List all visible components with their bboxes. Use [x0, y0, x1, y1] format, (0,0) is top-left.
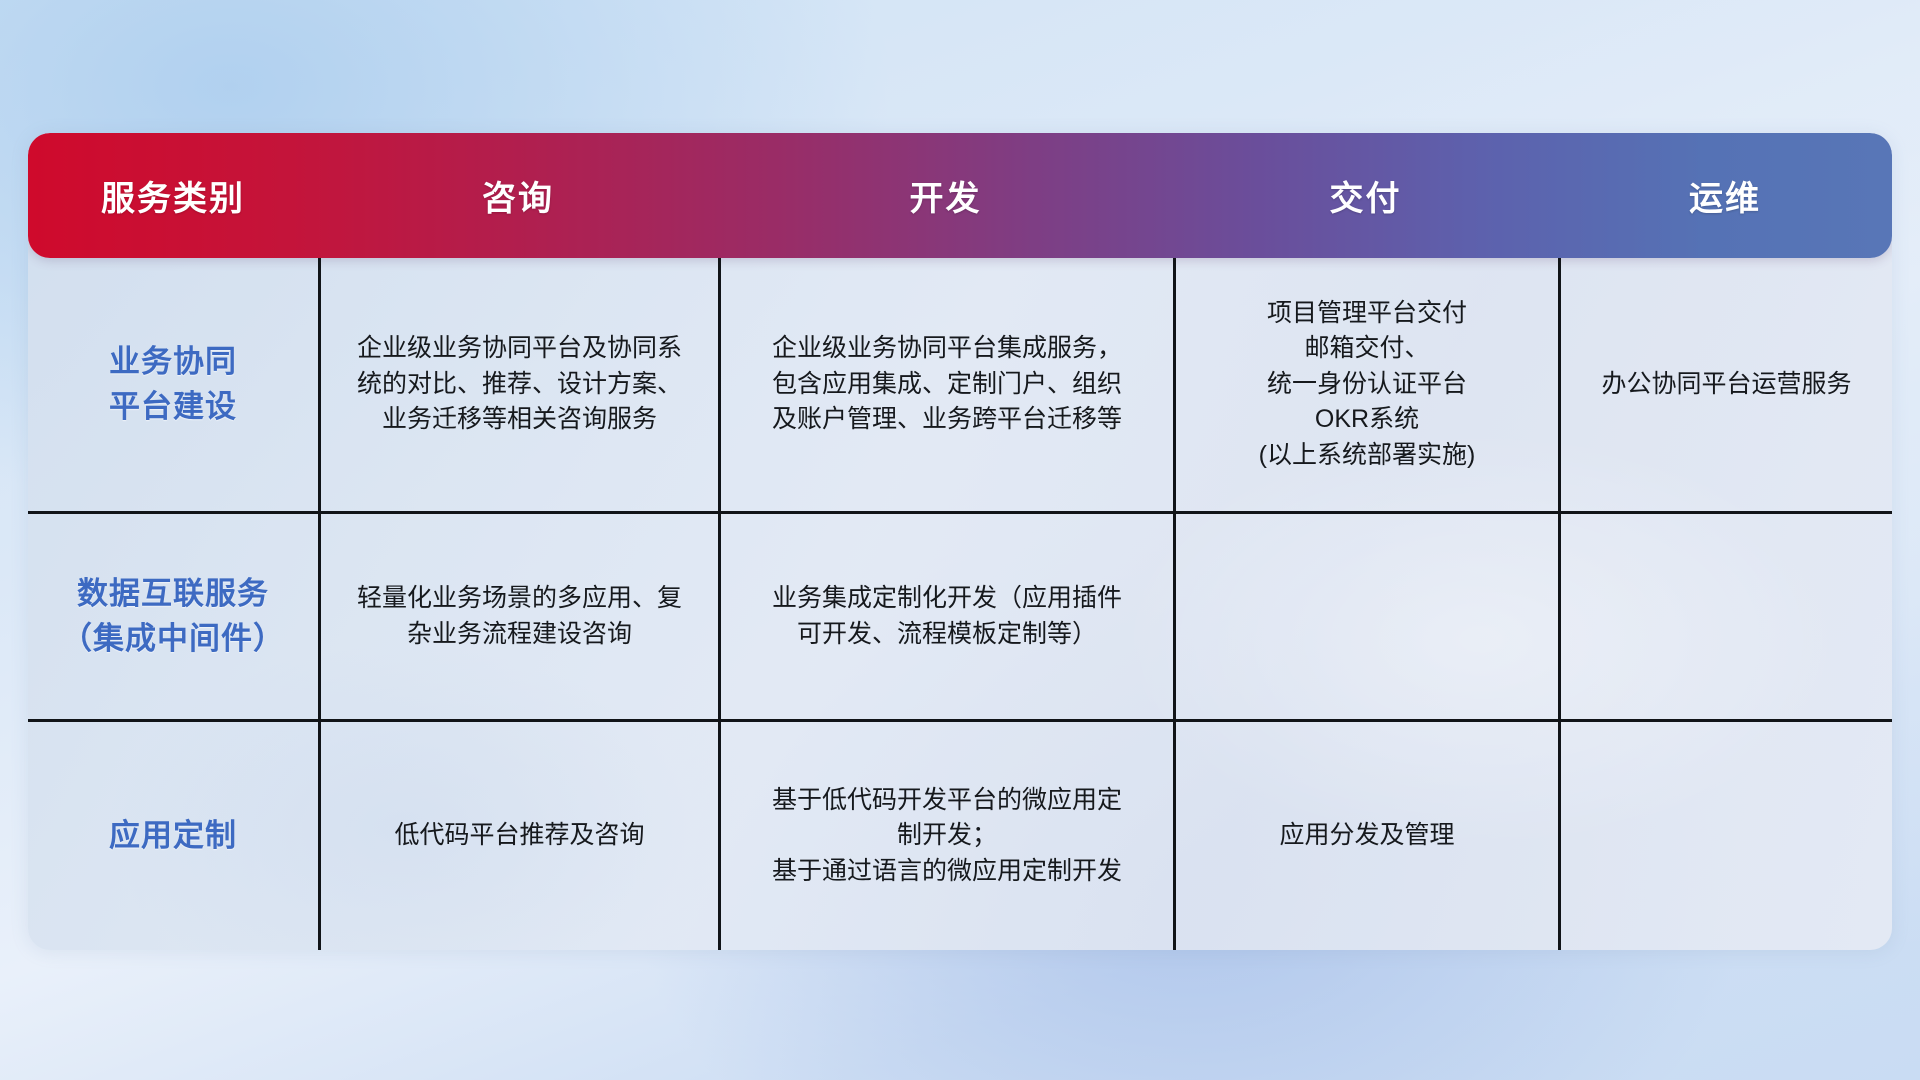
row-category-cell: 应用定制 [28, 722, 318, 950]
cell-consulting: 低代码平台推荐及咨询 [318, 722, 718, 950]
row-category-label: 应用定制 [109, 814, 237, 859]
cell-text: 基于低代码开发平台的微应用定 制开发； 基于通过语言的微应用定制开发 [772, 783, 1122, 890]
cell-delivery: 项目管理平台交付 邮箱交付、 统一身份认证平台 OKR系统 (以上系统部署实施) [1173, 258, 1558, 511]
cell-consulting: 轻量化业务场景的多应用、复 杂业务流程建设咨询 [318, 514, 718, 719]
cell-operations [1558, 514, 1892, 719]
column-header-development: 开发 [718, 133, 1173, 258]
row-category-label: 业务协同 平台建设 [109, 340, 237, 430]
table-body: 业务协同 平台建设 企业级业务协同平台及协同系 统的对比、推荐、设计方案、 业务… [28, 258, 1892, 950]
cell-text: 项目管理平台交付 邮箱交付、 统一身份认证平台 OKR系统 (以上系统部署实施) [1259, 296, 1476, 474]
column-header-delivery: 交付 [1173, 133, 1558, 258]
cell-development: 企业级业务协同平台集成服务， 包含应用集成、定制门户、组织 及账户管理、业务跨平… [718, 258, 1173, 511]
page-root: 服务类别 咨询 开发 交付 运维 业务协同 平台建设 企业级业务协同平台及协同系… [0, 0, 1920, 1080]
table-header-row: 服务类别 咨询 开发 交付 运维 [28, 133, 1892, 258]
cell-consulting: 企业级业务协同平台及协同系 统的对比、推荐、设计方案、 业务迁移等相关咨询服务 [318, 258, 718, 511]
row-category-label: 数据互联服务 （集成中间件） [61, 572, 285, 662]
row-category-cell: 数据互联服务 （集成中间件） [28, 514, 318, 719]
table-row: 业务协同 平台建设 企业级业务协同平台及协同系 统的对比、推荐、设计方案、 业务… [28, 258, 1892, 511]
column-header-category: 服务类别 [28, 133, 318, 258]
cell-text: 企业级业务协同平台及协同系 统的对比、推荐、设计方案、 业务迁移等相关咨询服务 [357, 331, 682, 438]
row-category-cell: 业务协同 平台建设 [28, 258, 318, 511]
cell-delivery: 应用分发及管理 [1173, 722, 1558, 950]
cell-development: 基于低代码开发平台的微应用定 制开发； 基于通过语言的微应用定制开发 [718, 722, 1173, 950]
column-header-consulting: 咨询 [318, 133, 718, 258]
cell-operations: 办公协同平台运营服务 [1558, 258, 1892, 511]
cell-text: 应用分发及管理 [1279, 818, 1454, 854]
cell-text: 轻量化业务场景的多应用、复 杂业务流程建设咨询 [357, 581, 682, 652]
cell-text: 办公协同平台运营服务 [1601, 367, 1851, 403]
service-category-table: 服务类别 咨询 开发 交付 运维 业务协同 平台建设 企业级业务协同平台及协同系… [28, 133, 1892, 950]
column-header-operations: 运维 [1558, 133, 1892, 258]
cell-development: 业务集成定制化开发（应用插件 可开发、流程模板定制等） [718, 514, 1173, 719]
cell-delivery [1173, 514, 1558, 719]
cell-text: 低代码平台推荐及咨询 [394, 818, 644, 854]
table-row: 数据互联服务 （集成中间件） 轻量化业务场景的多应用、复 杂业务流程建设咨询 业… [28, 511, 1892, 719]
cell-text: 企业级业务协同平台集成服务， 包含应用集成、定制门户、组织 及账户管理、业务跨平… [772, 331, 1122, 438]
cell-operations [1558, 722, 1892, 950]
table-row: 应用定制 低代码平台推荐及咨询 基于低代码开发平台的微应用定 制开发； 基于通过… [28, 719, 1892, 950]
cell-text: 业务集成定制化开发（应用插件 可开发、流程模板定制等） [772, 581, 1122, 652]
